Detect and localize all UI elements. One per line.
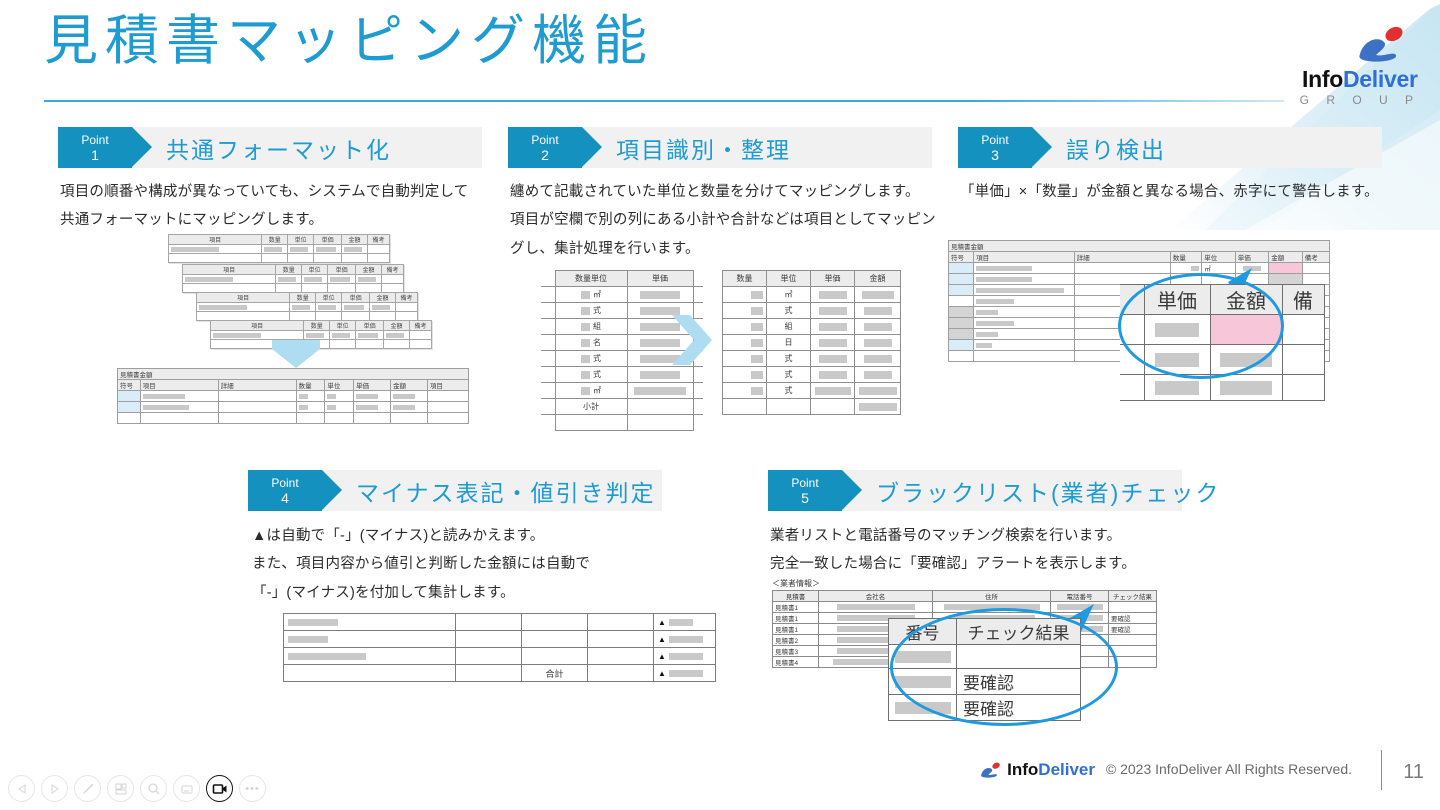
col-unit: 単位	[1202, 252, 1235, 263]
col-note: 備考	[396, 293, 418, 303]
point-3-word: Point	[981, 134, 1008, 146]
col-unit: 単位	[330, 321, 356, 331]
point-1-desc-line-1: 項目の順番や構成が異なっていても、システムで自動判定して	[60, 178, 490, 206]
table-row	[118, 413, 469, 424]
minus-notation-table: ▲ ▲ ▲ 合計 ▲	[283, 613, 716, 682]
error-magnified-table: 単価 金額 備	[1120, 284, 1325, 401]
point-5-header: Point 5 ブラックリスト(業者)チェック	[768, 470, 1182, 511]
point-1-header: Point 1 共通フォーマット化	[58, 127, 482, 168]
col-item: 項目	[140, 380, 218, 391]
table-row: ▲	[284, 614, 716, 631]
col-unit: 単位	[288, 235, 314, 245]
point-2-header: Point 2 項目識別・整理	[508, 127, 932, 168]
table-row: 式	[723, 383, 901, 399]
point-4-description: ▲は自動で「-」(マイナス)と読みかえます。 また、項目内容から値引と判断した金…	[252, 522, 672, 607]
table-row	[197, 303, 418, 312]
logo-deliver-text: Deliver	[1343, 66, 1418, 92]
mag-check-result: 要確認	[957, 669, 1081, 695]
table-row	[211, 340, 432, 349]
col-amount: 金額	[390, 380, 427, 391]
check-result	[1109, 657, 1157, 668]
search-icon	[147, 782, 161, 796]
point-1-desc-line-2: 共通フォーマットにマッピングします。	[60, 206, 490, 234]
col-symbol: 符号	[118, 380, 141, 391]
result-caption: 見積書金額	[118, 369, 469, 380]
table-row	[1120, 375, 1324, 401]
point-1-description: 項目の順番や構成が異なっていても、システムで自動判定して 共通フォーマットにマッ…	[60, 178, 490, 235]
point-5-title: ブラックリスト(業者)チェック	[876, 474, 1220, 508]
unit-value: 式	[593, 306, 601, 315]
table-row: 日	[723, 335, 901, 351]
copyright-text: © 2023 InfoDeliver All Rights Reserved.	[1106, 761, 1352, 777]
col-price: 単価	[342, 293, 370, 303]
table-row: ㎡	[949, 263, 1330, 274]
col-note: 備考	[382, 265, 404, 275]
col-note: 備考	[410, 321, 432, 331]
table-row: ㎡	[541, 383, 703, 399]
table-row: 見積書1	[773, 602, 1157, 613]
error-table-caption: 見積書金額	[949, 241, 1330, 252]
unit-value: 式	[593, 370, 601, 379]
col-item: 項目	[169, 235, 262, 245]
col-unit: 単位	[325, 380, 354, 391]
infodeliver-mark-icon	[977, 761, 1003, 779]
zoom-tool-button[interactable]	[140, 775, 167, 802]
unit-value: 式	[767, 303, 811, 319]
point-4-header: Point 4 マイナス表記・値引き判定	[248, 470, 662, 511]
point-5-desc-line-1: 業者リストと電話番号のマッチング検索を行います。	[770, 522, 1200, 550]
unit-value: 名	[593, 338, 601, 347]
table-row	[169, 245, 390, 254]
col-quote: 見積書	[773, 591, 819, 602]
presentation-toolbar[interactable]: •••	[8, 775, 266, 802]
minus-marker: ▲	[658, 635, 666, 644]
col-qty: 数量	[1170, 252, 1201, 263]
point-3-desc-line-1: 「単価」×「数量」が金額と異なる場合、赤字にて警告します。	[960, 178, 1390, 206]
table-row	[118, 402, 469, 413]
col-amount: 金額	[370, 293, 396, 303]
blacklist-magnified-table: 番号 チェック結果 要確認 要確認	[888, 618, 1081, 721]
footer-logo-deliver: Deliver	[1038, 760, 1095, 779]
title-divider	[44, 100, 1284, 102]
table-row	[169, 254, 390, 263]
record-button[interactable]	[206, 775, 233, 802]
mag-col-price: 単価	[1144, 285, 1210, 315]
mag-check-result: 要確認	[957, 695, 1081, 721]
point-5-word: Point	[791, 477, 818, 489]
point-2-desc-line-3: グし、集計処理を行います。	[510, 235, 950, 263]
col-amount: 金額	[356, 265, 382, 275]
transform-arrow-icon	[672, 315, 712, 370]
col-amount: 金額	[855, 271, 901, 287]
point-2-word: Point	[531, 134, 558, 146]
point-1-number: 1	[91, 148, 99, 162]
minus-marker: ▲	[658, 669, 666, 678]
logo-wordmark: InfoDeliver	[1300, 66, 1420, 93]
point-2-desc-line-1: 纏めて記載されていた単位と数量を分けてマッピングします。	[510, 178, 950, 206]
subtotal-label: 小計	[555, 399, 627, 415]
pen-icon	[81, 782, 95, 796]
source-table-3: 項目 数量 単位 単価 金額 備考	[196, 292, 418, 321]
infodeliver-mark-icon	[1350, 24, 1410, 64]
mapped-result-table: 見積書金額 符号 項目 詳細 数量 単位 単価 金額 項目	[117, 368, 469, 424]
check-result: 要確認	[1109, 613, 1157, 624]
col-phone: 電話番号	[1051, 591, 1109, 602]
col-price: 単価	[811, 271, 855, 287]
col-unit: 単位	[767, 271, 811, 287]
footer-logo-info: Info	[1007, 760, 1038, 779]
point-2-title: 項目識別・整理	[616, 131, 791, 165]
next-slide-button[interactable]	[41, 775, 68, 802]
point-5-badge: Point 5	[768, 470, 842, 511]
next-icon	[49, 783, 61, 795]
col-qty: 数量	[262, 235, 288, 245]
table-row: 式	[723, 351, 901, 367]
col-check-result: チェック結果	[1109, 591, 1157, 602]
point-2-description: 纏めて記載されていた単位と数量を分けてマッピングします。 項目が空欄で別の列にあ…	[510, 178, 950, 263]
col-qty: 数量	[304, 321, 330, 331]
table-row	[949, 274, 1330, 285]
col-qty: 数量	[290, 293, 316, 303]
col-amount: 金額	[1269, 252, 1302, 263]
table-row	[211, 331, 432, 340]
point-3-badge: Point 3	[958, 127, 1032, 168]
minus-marker: ▲	[658, 618, 666, 627]
point-3-description: 「単価」×「数量」が金額と異なる場合、赤字にて警告します。	[960, 178, 1390, 206]
logo-group-text: G R O U P	[1300, 93, 1420, 107]
unit-value: 日	[767, 335, 811, 351]
table-row	[118, 391, 469, 402]
col-item: 項目	[974, 252, 1074, 263]
col-item: 項目	[183, 265, 276, 275]
point-4-title: マイナス表記・値引き判定	[356, 474, 656, 508]
col-amount: 金額	[342, 235, 368, 245]
footer-divider	[1381, 750, 1382, 790]
quote-id: 見積書4	[773, 657, 819, 668]
title-block: 見積書マッピング機能	[44, 8, 1244, 76]
mag-col-amount: 金額	[1210, 285, 1282, 315]
table-row: 式	[723, 303, 901, 319]
col-detail: 詳細	[1074, 252, 1170, 263]
unit-value: ㎡	[593, 386, 601, 395]
table-row: 要確認	[889, 669, 1081, 695]
unit-value: 組	[767, 319, 811, 335]
point-5-number: 5	[801, 491, 809, 505]
brand-logo: InfoDeliver G R O U P	[1300, 24, 1420, 107]
col-amount: 金額	[384, 321, 410, 331]
mag-col-note: 備	[1282, 285, 1324, 315]
table-row: ㎡	[723, 287, 901, 303]
table-row: ㎡	[541, 287, 703, 303]
source-table-2: 項目 数量 単位 単価 金額 備考	[182, 264, 404, 293]
col-qty-unit: 数量単位	[555, 271, 627, 287]
table-row: ▲	[284, 631, 716, 648]
point-4-desc-line-1: ▲は自動で「-」(マイナス)と読みかえます。	[252, 522, 672, 550]
table-row: 合計 ▲	[284, 665, 716, 682]
col-qty: 数量	[723, 271, 767, 287]
logo-info-text: Info	[1302, 66, 1343, 92]
check-result	[1109, 635, 1157, 646]
quote-id: 見積書2	[773, 635, 819, 646]
grid-icon	[114, 782, 128, 796]
table-row	[723, 399, 901, 415]
table-row: ▲	[284, 648, 716, 665]
check-result	[1109, 602, 1157, 613]
col-item2: 項目	[427, 380, 468, 391]
table-row: 組	[723, 319, 901, 335]
point-4-badge: Point 4	[248, 470, 322, 511]
total-label: 合計	[522, 665, 588, 682]
col-unit: 単位	[302, 265, 328, 275]
point-5-description: 業者リストと電話番号のマッチング検索を行います。 完全一致した場合に「要確認」ア…	[770, 522, 1200, 579]
col-detail: 詳細	[218, 380, 296, 391]
col-qty: 数量	[296, 380, 325, 391]
point-4-number: 4	[281, 491, 289, 505]
point-1-word: Point	[81, 134, 108, 146]
minus-marker: ▲	[658, 652, 666, 661]
point-4-desc-line-3: 「-」(マイナス)を付加して集計します。	[252, 579, 672, 607]
point-1-badge: Point 1	[58, 127, 132, 168]
unit-value: 式	[767, 351, 811, 367]
slide-grid-button[interactable]	[107, 775, 134, 802]
col-price: 単価	[354, 380, 391, 391]
point-1-title: 共通フォーマット化	[166, 131, 391, 165]
col-price: 単価	[314, 235, 342, 245]
table-row	[889, 645, 1081, 669]
point-2-badge: Point 2	[508, 127, 582, 168]
video-camera-icon	[212, 782, 228, 796]
source-table-4: 項目 数量 単位 単価 金額 備考	[210, 320, 432, 349]
col-price: 単価	[627, 271, 693, 287]
presenter-screen-button[interactable]	[173, 775, 200, 802]
col-price: 単価	[1235, 252, 1268, 263]
col-symbol: 符号	[949, 252, 974, 263]
check-result	[1109, 646, 1157, 657]
col-note: 備考	[1302, 252, 1329, 263]
table-row: 式	[723, 367, 901, 383]
more-options-button[interactable]: •••	[239, 775, 266, 802]
table-row: 小計	[541, 399, 703, 415]
unit-value: ㎡	[593, 290, 601, 299]
col-price: 単価	[328, 265, 356, 275]
screen-icon	[180, 782, 194, 796]
table-row	[1120, 315, 1324, 345]
point-2-desc-line-2: 項目が空欄で別の列にある小計や合計などは項目としてマッピン	[510, 206, 950, 234]
unit-value: 式	[767, 367, 811, 383]
quote-id: 見積書3	[773, 646, 819, 657]
previous-slide-button[interactable]	[8, 775, 35, 802]
col-price: 単価	[356, 321, 384, 331]
table-row: 要確認	[889, 695, 1081, 721]
after-split-table: 数量 単位 単価 金額 ㎡ 式 組 日 式 式 式	[722, 270, 901, 415]
col-address: 住所	[933, 591, 1051, 602]
unit-value: ㎡	[767, 287, 811, 303]
page-number: 11	[1403, 761, 1424, 784]
quote-id: 見積書1	[773, 624, 819, 635]
quote-id: 見積書1	[773, 613, 819, 624]
table-row	[541, 415, 703, 431]
col-unit: 単位	[316, 293, 342, 303]
col-note: 備考	[368, 235, 390, 245]
unit-value: 式	[767, 383, 811, 399]
col-qty: 数量	[276, 265, 302, 275]
quote-id: 見積書1	[773, 602, 819, 613]
ellipsis-icon: •••	[245, 783, 260, 795]
point-5-desc-line-2: 完全一致した場合に「要確認」アラートを表示します。	[770, 550, 1200, 578]
mag-col-phone: 番号	[889, 619, 957, 645]
vendor-info-caption: ＜業者情報＞	[772, 578, 820, 589]
source-table-1: 項目 数量 単位 単価 金額 備考	[168, 234, 390, 263]
col-item: 項目	[211, 321, 304, 331]
unit-value: 式	[593, 354, 601, 363]
point-3-title: 誤り検出	[1066, 131, 1166, 165]
table-row	[183, 275, 404, 284]
point-4-desc-line-2: また、項目内容から値引と判断した金額には自動で	[252, 550, 672, 578]
pen-tool-button[interactable]	[74, 775, 101, 802]
mag-col-check: チェック結果	[957, 619, 1081, 645]
page-title: 見積書マッピング機能	[44, 8, 1244, 76]
point-3-header: Point 3 誤り検出	[958, 127, 1382, 168]
col-company: 会社名	[819, 591, 933, 602]
footer-logo: InfoDeliver	[977, 760, 1095, 780]
check-result: 要確認	[1109, 624, 1157, 635]
point-4-word: Point	[271, 477, 298, 489]
mag-check-result	[957, 645, 1081, 669]
table-row	[1120, 345, 1324, 375]
point-2-number: 2	[541, 148, 549, 162]
point-3-number: 3	[991, 148, 999, 162]
col-item: 項目	[197, 293, 290, 303]
unit-value: 組	[593, 322, 601, 331]
previous-icon	[16, 783, 28, 795]
